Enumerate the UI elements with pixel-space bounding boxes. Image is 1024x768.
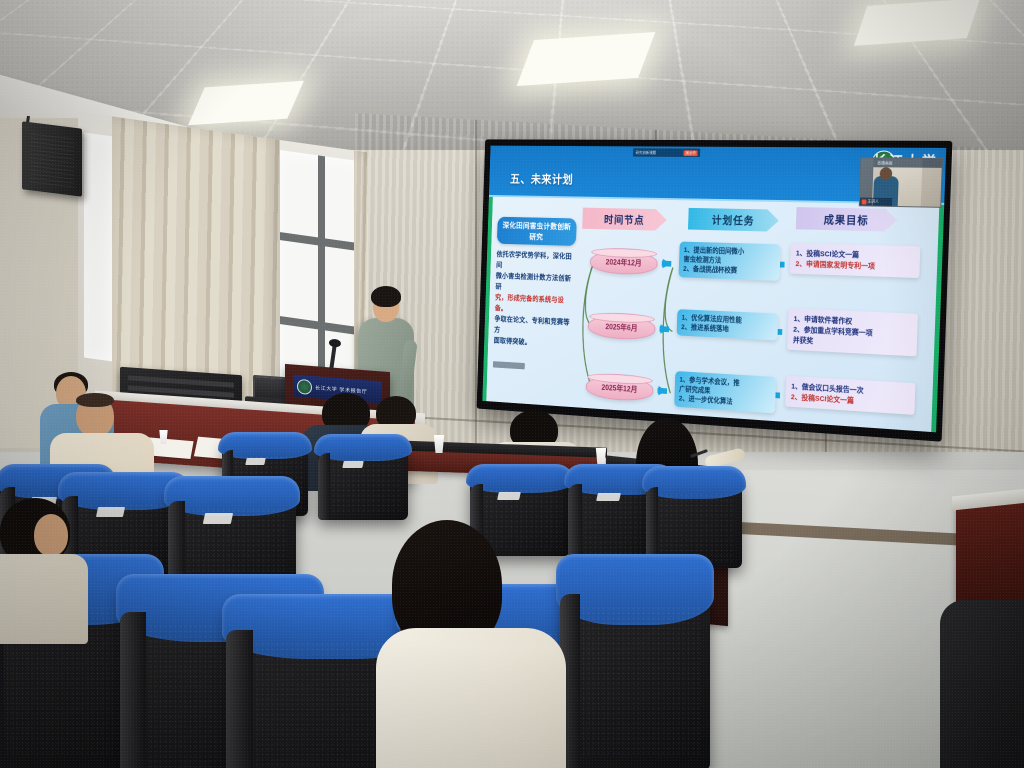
timeline-node: 2025年12月	[586, 375, 654, 402]
wall-speaker-icon	[22, 121, 82, 196]
task-line: 2、备战挑战杯校赛	[683, 264, 775, 277]
audience-body	[376, 628, 566, 768]
rec-dot-icon	[861, 199, 866, 204]
left-panel-body: 依托农学优势学科，深化田间 微小害虫检测计数方法创新研 究，形成完备的系统与设备…	[494, 249, 576, 350]
task-card: 1、优化算法应用性能 2、推进系统落地	[677, 309, 779, 340]
ceiling-light-panel	[517, 32, 656, 86]
audience-hair	[76, 393, 114, 407]
timeline-node: 2024年12月	[590, 250, 658, 275]
slide-content: 时间节点 计划任务 成果目标 深化田间害虫计数创新研究 依托农学优势学科，深化田…	[482, 197, 944, 433]
seat-number-tag	[245, 458, 265, 465]
column-header-tasks: 计划任务	[688, 208, 779, 232]
slide-footer-watermark	[493, 361, 525, 369]
lecture-hall-photo: 研究创新课题 演示中 五、未来计划 长江大学 时间节点 计划任务 成果目标 深化…	[0, 0, 1024, 768]
left-panel-heading: 深化田间害虫计数创新研究	[497, 217, 577, 246]
task-card: 1、参与学术会议，推 广研究成果 2、进一步优化算法	[674, 371, 776, 413]
goal-card: 1、申请软件著作权 2、参加重点学科竞赛一项 并获奖	[787, 308, 918, 356]
timeline-node-label: 2025年12月	[601, 382, 637, 394]
goal-card: 1、投稿SCI论文一篇 2、申请国家发明专利一项	[790, 243, 921, 278]
audience-body	[996, 556, 1024, 626]
goal-line: 2、申请国家发明专利一项	[795, 258, 914, 273]
timeline-node: 2025年6月	[588, 314, 656, 340]
ceiling-light-panel	[188, 81, 304, 126]
arrow-icon	[658, 386, 667, 396]
toolbar-badge: 演示中	[684, 150, 698, 156]
video-bottom-label: 主讲人	[867, 199, 879, 205]
audience-body	[0, 554, 88, 644]
presentation-slide: 研究创新课题 演示中 五、未来计划 长江大学 时间节点 计划任务 成果目标 深化…	[482, 146, 946, 433]
timeline-node-label: 2025年6月	[605, 322, 637, 334]
left-summary-panel: 深化田间害虫计数创新研究 依托农学优势学科，深化田间 微小害虫检测计数方法创新研…	[494, 217, 577, 351]
seat-number-tag	[596, 493, 621, 501]
seat-number-tag	[96, 507, 125, 517]
led-display-screen[interactable]: 研究创新课题 演示中 五、未来计划 长江大学 时间节点 计划任务 成果目标 深化…	[477, 139, 953, 441]
column-header-time: 时间节点	[582, 208, 667, 231]
arrow-icon	[662, 259, 671, 269]
left-panel-line: 依托农学优势学科，深化田间	[496, 249, 576, 273]
seat-number-tag	[342, 461, 363, 468]
column-header-goals: 成果目标	[796, 207, 898, 232]
auditorium-seat[interactable]	[560, 560, 710, 768]
task-card: 1、提出新的田间微小 害虫检测方法 2、备战挑战杯校赛	[679, 242, 781, 281]
arrow-icon	[660, 324, 669, 334]
toolbar-tab-label: 研究创新课题	[636, 150, 657, 156]
seat-number-tag	[497, 492, 521, 500]
audience-head	[34, 514, 68, 556]
window-pane	[84, 132, 114, 361]
podium-emblem-icon	[297, 378, 312, 394]
timeline-node-label: 2024年12月	[606, 257, 642, 268]
live-video-overlay[interactable]: 直播画面 主讲人	[859, 157, 943, 208]
video-top-label: 直播画面	[877, 160, 892, 166]
seat-number-tag	[203, 513, 233, 524]
presenter-toolbar[interactable]: 研究创新课题 演示中	[633, 148, 700, 157]
auditorium-seat[interactable]	[318, 440, 408, 520]
screen-surface: 研究创新课题 演示中 五、未来计划 长江大学 时间节点 计划任务 成果目标 深化…	[482, 146, 946, 433]
video-top-bar: 直播画面	[873, 158, 942, 168]
goal-card: 1、做会议口头报告一次 2、投稿SCI论文一篇	[785, 376, 915, 415]
slide-title: 五、未来计划	[510, 169, 574, 187]
presenter-hair	[371, 286, 401, 307]
